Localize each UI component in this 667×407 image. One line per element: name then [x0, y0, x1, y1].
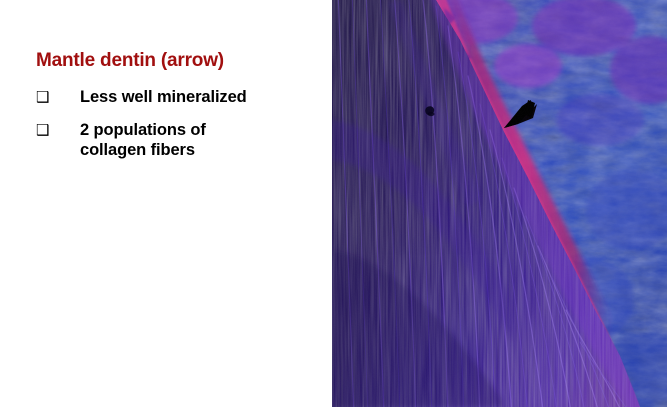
list-item: ❑ 2 populations of collagen fibers	[36, 120, 206, 160]
list-item-label: Less well mineralized	[80, 87, 247, 107]
micrograph-canvas	[332, 0, 667, 407]
list-item-label: 2 populations of collagen fibers	[80, 120, 206, 160]
square-bullet-icon: ❑	[36, 87, 80, 106]
slide-canvas: Mantle dentin (arrow) ❑ Less well minera…	[0, 0, 667, 407]
page-title: Mantle dentin (arrow)	[36, 50, 224, 72]
histology-micrograph	[332, 0, 667, 407]
square-bullet-icon: ❑	[36, 120, 80, 139]
list-item: ❑ Less well mineralized	[36, 87, 247, 107]
film-grain	[332, 0, 667, 407]
text-content-panel: Mantle dentin (arrow) ❑ Less well minera…	[0, 0, 332, 407]
